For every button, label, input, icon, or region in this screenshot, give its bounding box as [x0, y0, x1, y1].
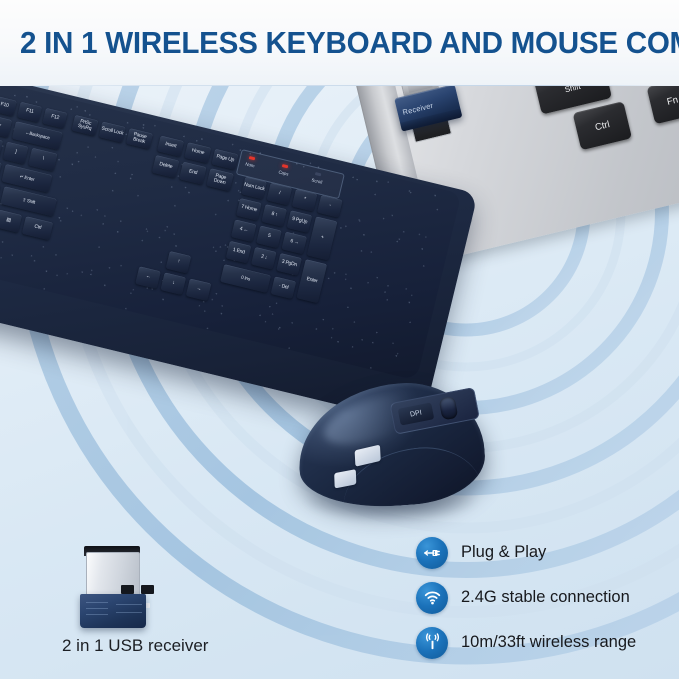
plugged-receiver-label: Receiver: [402, 101, 434, 117]
feature-row: 10m/33ft wireless range: [416, 620, 676, 665]
page-title: 2 IN 1 WIRELESS KEYBOARD AND MOUSE COMBO: [20, 26, 636, 60]
mouse-scroll-wheel: [439, 396, 459, 421]
feature-list: Plug & Play2.4G stable connection10m/33f…: [416, 530, 676, 665]
product-marketing-image: TabCaps LockShiftCtrl`12QWASZFnXE Receiv…: [0, 0, 679, 679]
broadcast-tower-icon: [416, 627, 448, 659]
keyboard-led-label: Scroll: [311, 177, 323, 184]
wireless-mouse: DPI: [292, 376, 492, 526]
keyboard-led-caps: [282, 164, 289, 169]
keyboard-led-scroll: [315, 172, 322, 177]
keyboard-led-label: Caps: [278, 169, 289, 176]
keyboard-led-label: Num: [245, 161, 255, 168]
feature-row: 2.4G stable connection: [416, 575, 676, 620]
feature-label: 10m/33ft wireless range: [461, 633, 636, 652]
receiver-caption: 2 in 1 USB receiver: [62, 636, 262, 656]
receiver-ridge: [116, 612, 142, 613]
keyboard-led-num: [249, 156, 256, 161]
header-divider: [0, 85, 679, 86]
receiver-contact-slot: [141, 585, 154, 594]
usb-nano-receiver: 2 in 1 USB receiver: [62, 536, 172, 631]
mouse-body: DPI: [294, 378, 488, 513]
feature-label: 2.4G stable connection: [461, 588, 630, 607]
wifi-signal-icon: [416, 582, 448, 614]
feature-label: Plug & Play: [461, 543, 546, 562]
receiver-ridge: [86, 602, 108, 603]
receiver-contact-slot: [121, 585, 134, 594]
receiver-ridge: [86, 608, 108, 609]
mouse-dpi-button: DPI: [398, 402, 435, 425]
laptop-key: Ctrl: [573, 101, 632, 150]
usb-plug-icon: [416, 537, 448, 569]
header-banner: 2 IN 1 WIRELESS KEYBOARD AND MOUSE COMBO: [0, 0, 679, 86]
receiver-ridge: [86, 614, 108, 615]
receiver-ridge: [116, 604, 142, 605]
feature-row: Plug & Play: [416, 530, 676, 575]
receiver-plastic-body: [80, 594, 146, 628]
